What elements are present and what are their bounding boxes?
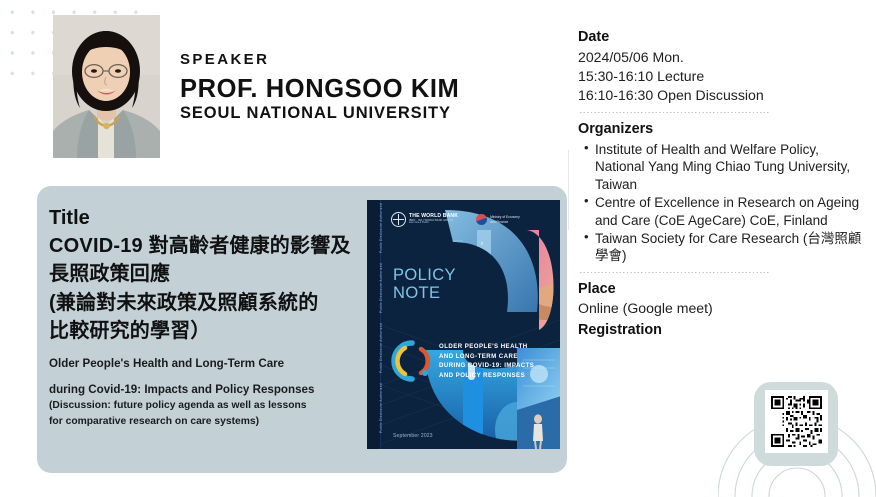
date-line-3: 16:10-16:30 Open Discussion [578,86,868,105]
speaker-info: SPEAKER PROF. HONGSOO KIM SEOUL NATIONAL… [180,52,550,122]
cover-publication-date: September 2023 [393,433,433,439]
cover-title-line-2: AND LONG-TERM CARE [439,352,547,362]
list-item: Institute of Health and Welfare Policy, … [595,141,868,193]
event-details-column: Date 2024/05/06 Mon. 15:30-16:10 Lecture… [578,28,868,340]
list-item: Centre of Excellence in Research on Agei… [595,194,868,229]
ministry-line-2: and Finance [490,220,520,224]
place-value: Online (Google meet) [578,299,868,318]
list-item: Taiwan Society for Care Research (台灣照顧學會… [595,230,868,265]
title-label: Title [49,206,354,231]
report-cover-image: Public Disclosure Authorized Public Disc… [367,200,560,449]
ministry-logo: Ministry of Economy and Finance [476,214,520,225]
taeguk-icon [476,214,487,225]
title-cjk-line-3: (兼論對未來政策及照顧系統的 [49,289,354,317]
date-line-1: 2024/05/06 Mon. [578,48,868,67]
divider-dotted-1 [580,112,770,113]
qr-code-icon[interactable] [769,394,824,449]
column-divider [568,150,569,230]
cover-spine: Public Disclosure Authorized Public Disc… [367,200,381,449]
cover-title-line-3: DURING COVID-19: IMPACTS [439,361,547,371]
title-cjk-line-1: COVID-19 對高齡者健康的影響及 [49,232,354,260]
date-line-2: 15:30-16:10 Lecture [578,67,868,86]
cover-title: OLDER PEOPLE'S HEALTH AND LONG-TERM CARE… [439,342,547,381]
registration-heading: Registration [578,321,868,340]
cover-policy-line-2: NOTE [393,284,456,302]
title-subtitle-line-1: Older People's Health and Long-Term Care [49,356,354,372]
title-card: Title COVID-19 對高齡者健康的影響及 長照政策回應 (兼論對未來政… [37,186,567,473]
title-note-line-1: (Discussion: future policy agenda as wel… [49,399,354,413]
cover-title-line-1: OLDER PEOPLE'S HEALTH [439,342,547,352]
title-note-line-2: for comparative research on care systems… [49,415,354,429]
place-heading: Place [578,280,868,299]
qr-code-frame[interactable] [765,390,828,453]
organizers-list: Institute of Health and Welfare Policy, … [578,141,868,265]
speaker-portrait-photo [53,15,160,158]
registration-qr-block[interactable] [718,378,876,497]
title-cjk-line-4: 比較研究的學習） [49,317,354,345]
cover-artwork [367,200,560,449]
ministry-line-1: Ministry of Economy [490,215,520,219]
cover-policy-note: POLICY NOTE [393,266,456,303]
cover-policy-line-1: POLICY [393,266,456,284]
divider-dotted-2 [580,272,770,273]
cover-title-line-4: AND POLICY RESPONSES [439,371,547,381]
world-bank-region: East Asia & Pacific [409,222,458,225]
portrait-illustration [53,15,160,158]
title-cjk-line-2: 長照政策回應 [49,260,354,288]
speaker-name: PROF. HONGSOO KIM [180,75,550,104]
cover-logos: THE WORLD BANK IBRD · IDA | WORLD BANK G… [391,212,520,227]
cover-spine-text-4: Public Disclosure Authorized [379,360,383,449]
organizers-heading: Organizers [578,120,868,139]
speaker-kicker: SPEAKER [180,52,550,69]
title-text-block: Title COVID-19 對高齡者健康的影響及 長照政策回應 (兼論對未來政… [49,206,354,429]
coe-ring-icon [391,340,433,382]
speaker-affiliation: SEOUL NATIONAL UNIVERSITY [180,104,550,122]
world-bank-logo: THE WORLD BANK IBRD · IDA | WORLD BANK G… [391,212,458,227]
globe-icon [391,212,406,227]
title-subtitle-line-2: during Covid-19: Impacts and Policy Resp… [49,382,354,398]
date-heading: Date [578,28,868,47]
